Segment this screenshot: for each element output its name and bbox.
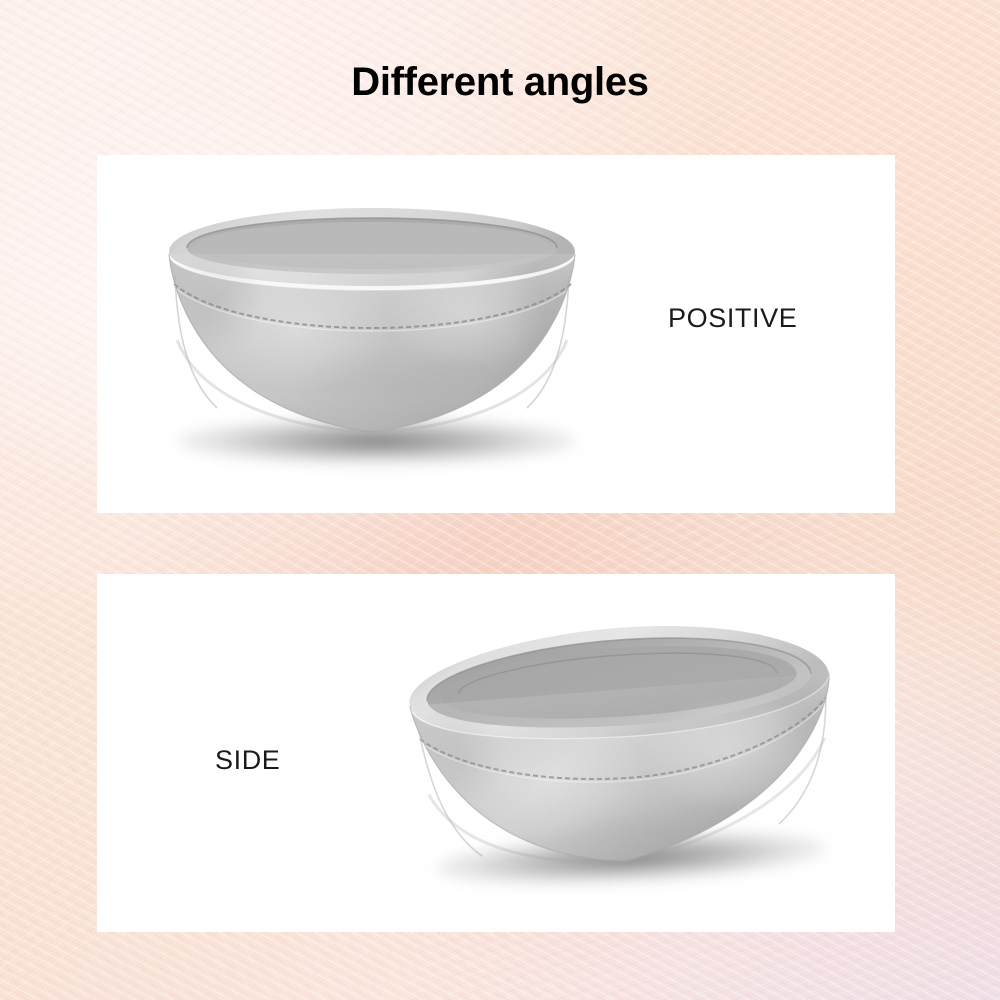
product-stage-positive [147, 180, 597, 480]
product-stage-side [397, 602, 857, 902]
panel-side-view: SIDE [97, 574, 895, 932]
page-title: Different angles [0, 60, 1000, 105]
label-side: SIDE [215, 745, 280, 776]
panel-positive-view: POSITIVE [97, 155, 895, 513]
product-image-side [380, 575, 873, 929]
product-image-positive [147, 180, 597, 480]
label-positive: POSITIVE [668, 303, 797, 334]
